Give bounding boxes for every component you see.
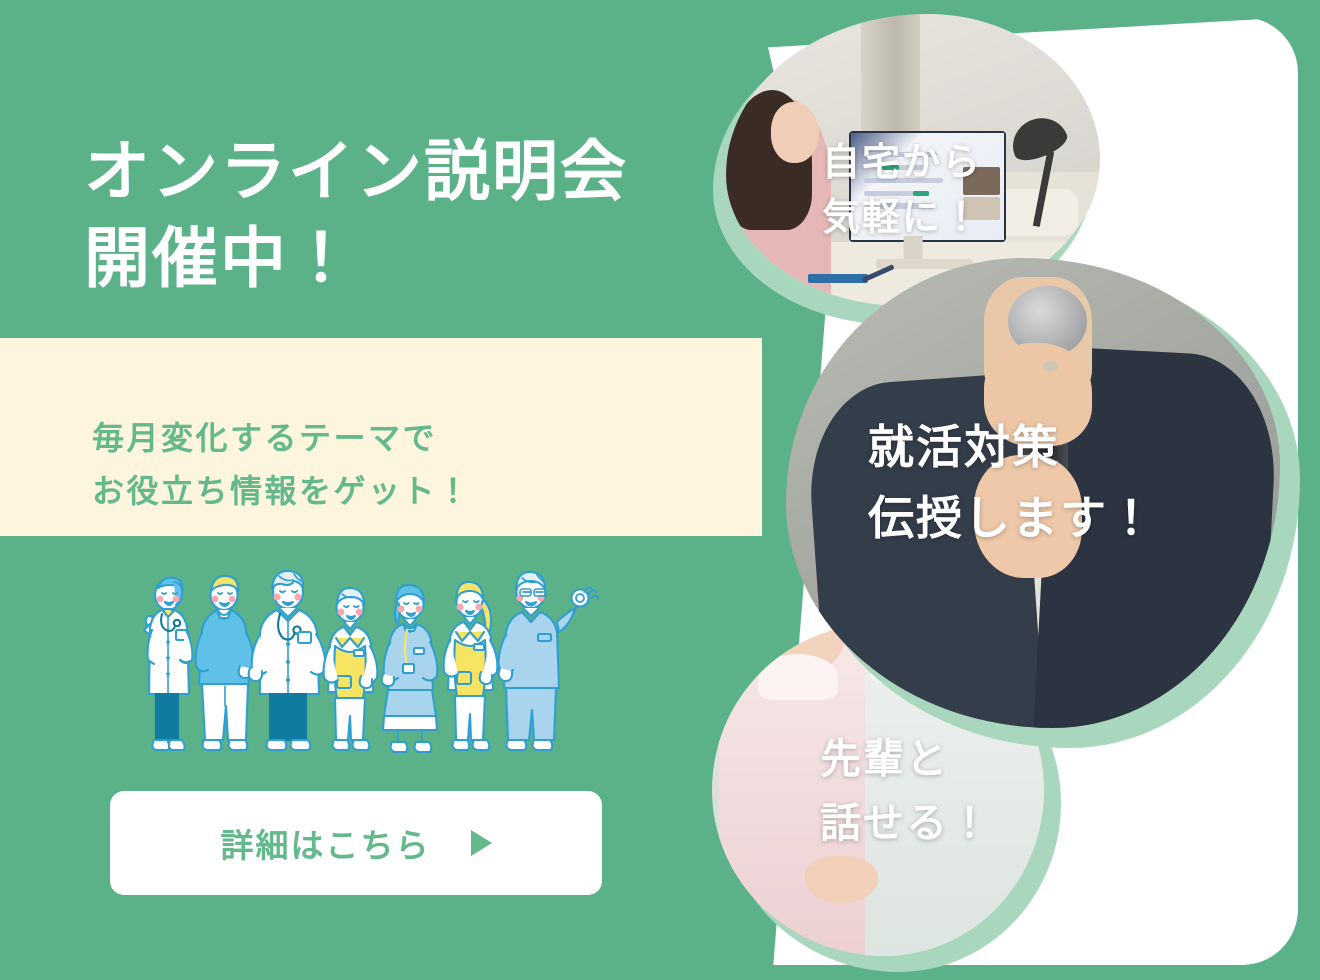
photo-caption-nurses: 先輩と 話せる！: [820, 728, 992, 855]
figure-senior-doctor: [249, 571, 326, 750]
page-title: オンライン説明会 開催中！: [84, 128, 724, 302]
medical-staff-illustration: [122, 558, 602, 790]
photo-caption-microphone: 就活対策 伝授します！: [868, 412, 1156, 555]
figure-female-nurse: [382, 585, 438, 752]
figure-male-nurse: [196, 576, 254, 750]
figure-caregiver-ponytail: [444, 582, 498, 750]
play-triangle-icon: [471, 830, 492, 856]
details-button[interactable]: 詳細はこちら: [110, 791, 602, 895]
figure-senior-caregiver: [324, 588, 378, 750]
details-button-label: 詳細はこちら: [221, 819, 431, 867]
promo-banner: オンライン説明会 開催中！ 毎月変化するテーマで お役立ち情報をゲット！: [0, 0, 1320, 980]
figure-female-doctor: [144, 578, 192, 750]
photo-caption-online-meeting: 自宅から 気軽に！: [822, 136, 982, 246]
figure-senior-nurse: [499, 572, 598, 750]
subcopy-text: 毎月変化するテーマで お役立ち情報をゲット！: [92, 412, 712, 518]
